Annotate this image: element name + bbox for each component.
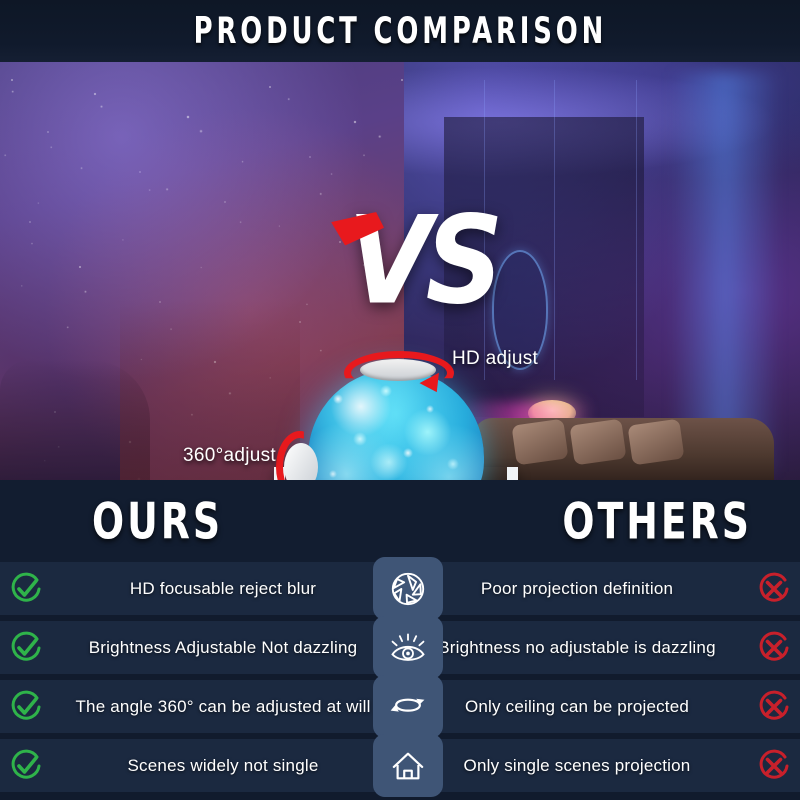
ours-feature-text: The angle 360° can be adjusted at will <box>52 697 400 717</box>
table-row: The angle 360° can be adjusted at will O… <box>0 680 800 733</box>
others-feature-text: Only ceiling can be projected <box>400 697 748 717</box>
ours-feature-text: Scenes widely not single <box>52 756 400 776</box>
hero-photo: VS HD adjust 360°a <box>0 62 800 480</box>
cross-icon <box>748 631 800 665</box>
product-comparison-page: PRODUCT COMPARISON VS <box>0 0 800 800</box>
wall-seam-3 <box>636 80 637 380</box>
callout-360-adjust: 360°adjust <box>183 445 276 467</box>
eye-icon <box>373 616 443 679</box>
cross-icon <box>748 572 800 606</box>
dome-star-specks <box>308 369 484 480</box>
aperture-icon <box>373 557 443 620</box>
others-feature-text: Only single scenes projection <box>400 756 748 776</box>
callout-hd-adjust: HD adjust <box>452 348 538 370</box>
check-icon <box>0 749 52 783</box>
cross-icon <box>748 749 800 783</box>
table-row: HD focusable reject blur Poor projection… <box>0 562 800 615</box>
cross-icon <box>748 690 800 724</box>
cushion-2 <box>569 419 626 466</box>
blue-accent-light <box>670 72 780 472</box>
column-label-ours: OURS <box>92 473 223 570</box>
check-icon <box>0 572 52 606</box>
table-row: Brightness Adjustable Not dazzling Brigh… <box>0 621 800 674</box>
ours-feature-text: Brightness Adjustable Not dazzling <box>52 638 400 658</box>
column-label-band: OURS OTHERS <box>0 480 800 562</box>
wall-seam-2 <box>554 80 555 380</box>
check-icon <box>0 631 52 665</box>
others-feature-text: Brightness no adjustable is dazzling <box>400 638 748 658</box>
column-label-others: OTHERS <box>562 473 752 570</box>
product-dome <box>308 369 484 480</box>
check-icon <box>0 690 52 724</box>
ours-feature-text: HD focusable reject blur <box>52 579 400 599</box>
comparison-table: HD focusable reject blur Poor projection… <box>0 562 800 800</box>
table-row: Scenes widely not single Only single sce… <box>0 739 800 792</box>
home-icon <box>373 734 443 797</box>
header-band: PRODUCT COMPARISON <box>0 0 800 62</box>
cushion-3 <box>627 419 684 466</box>
page-title: PRODUCT COMPARISON <box>193 10 607 53</box>
rotate-icon <box>373 675 443 738</box>
others-feature-text: Poor projection definition <box>400 579 748 599</box>
